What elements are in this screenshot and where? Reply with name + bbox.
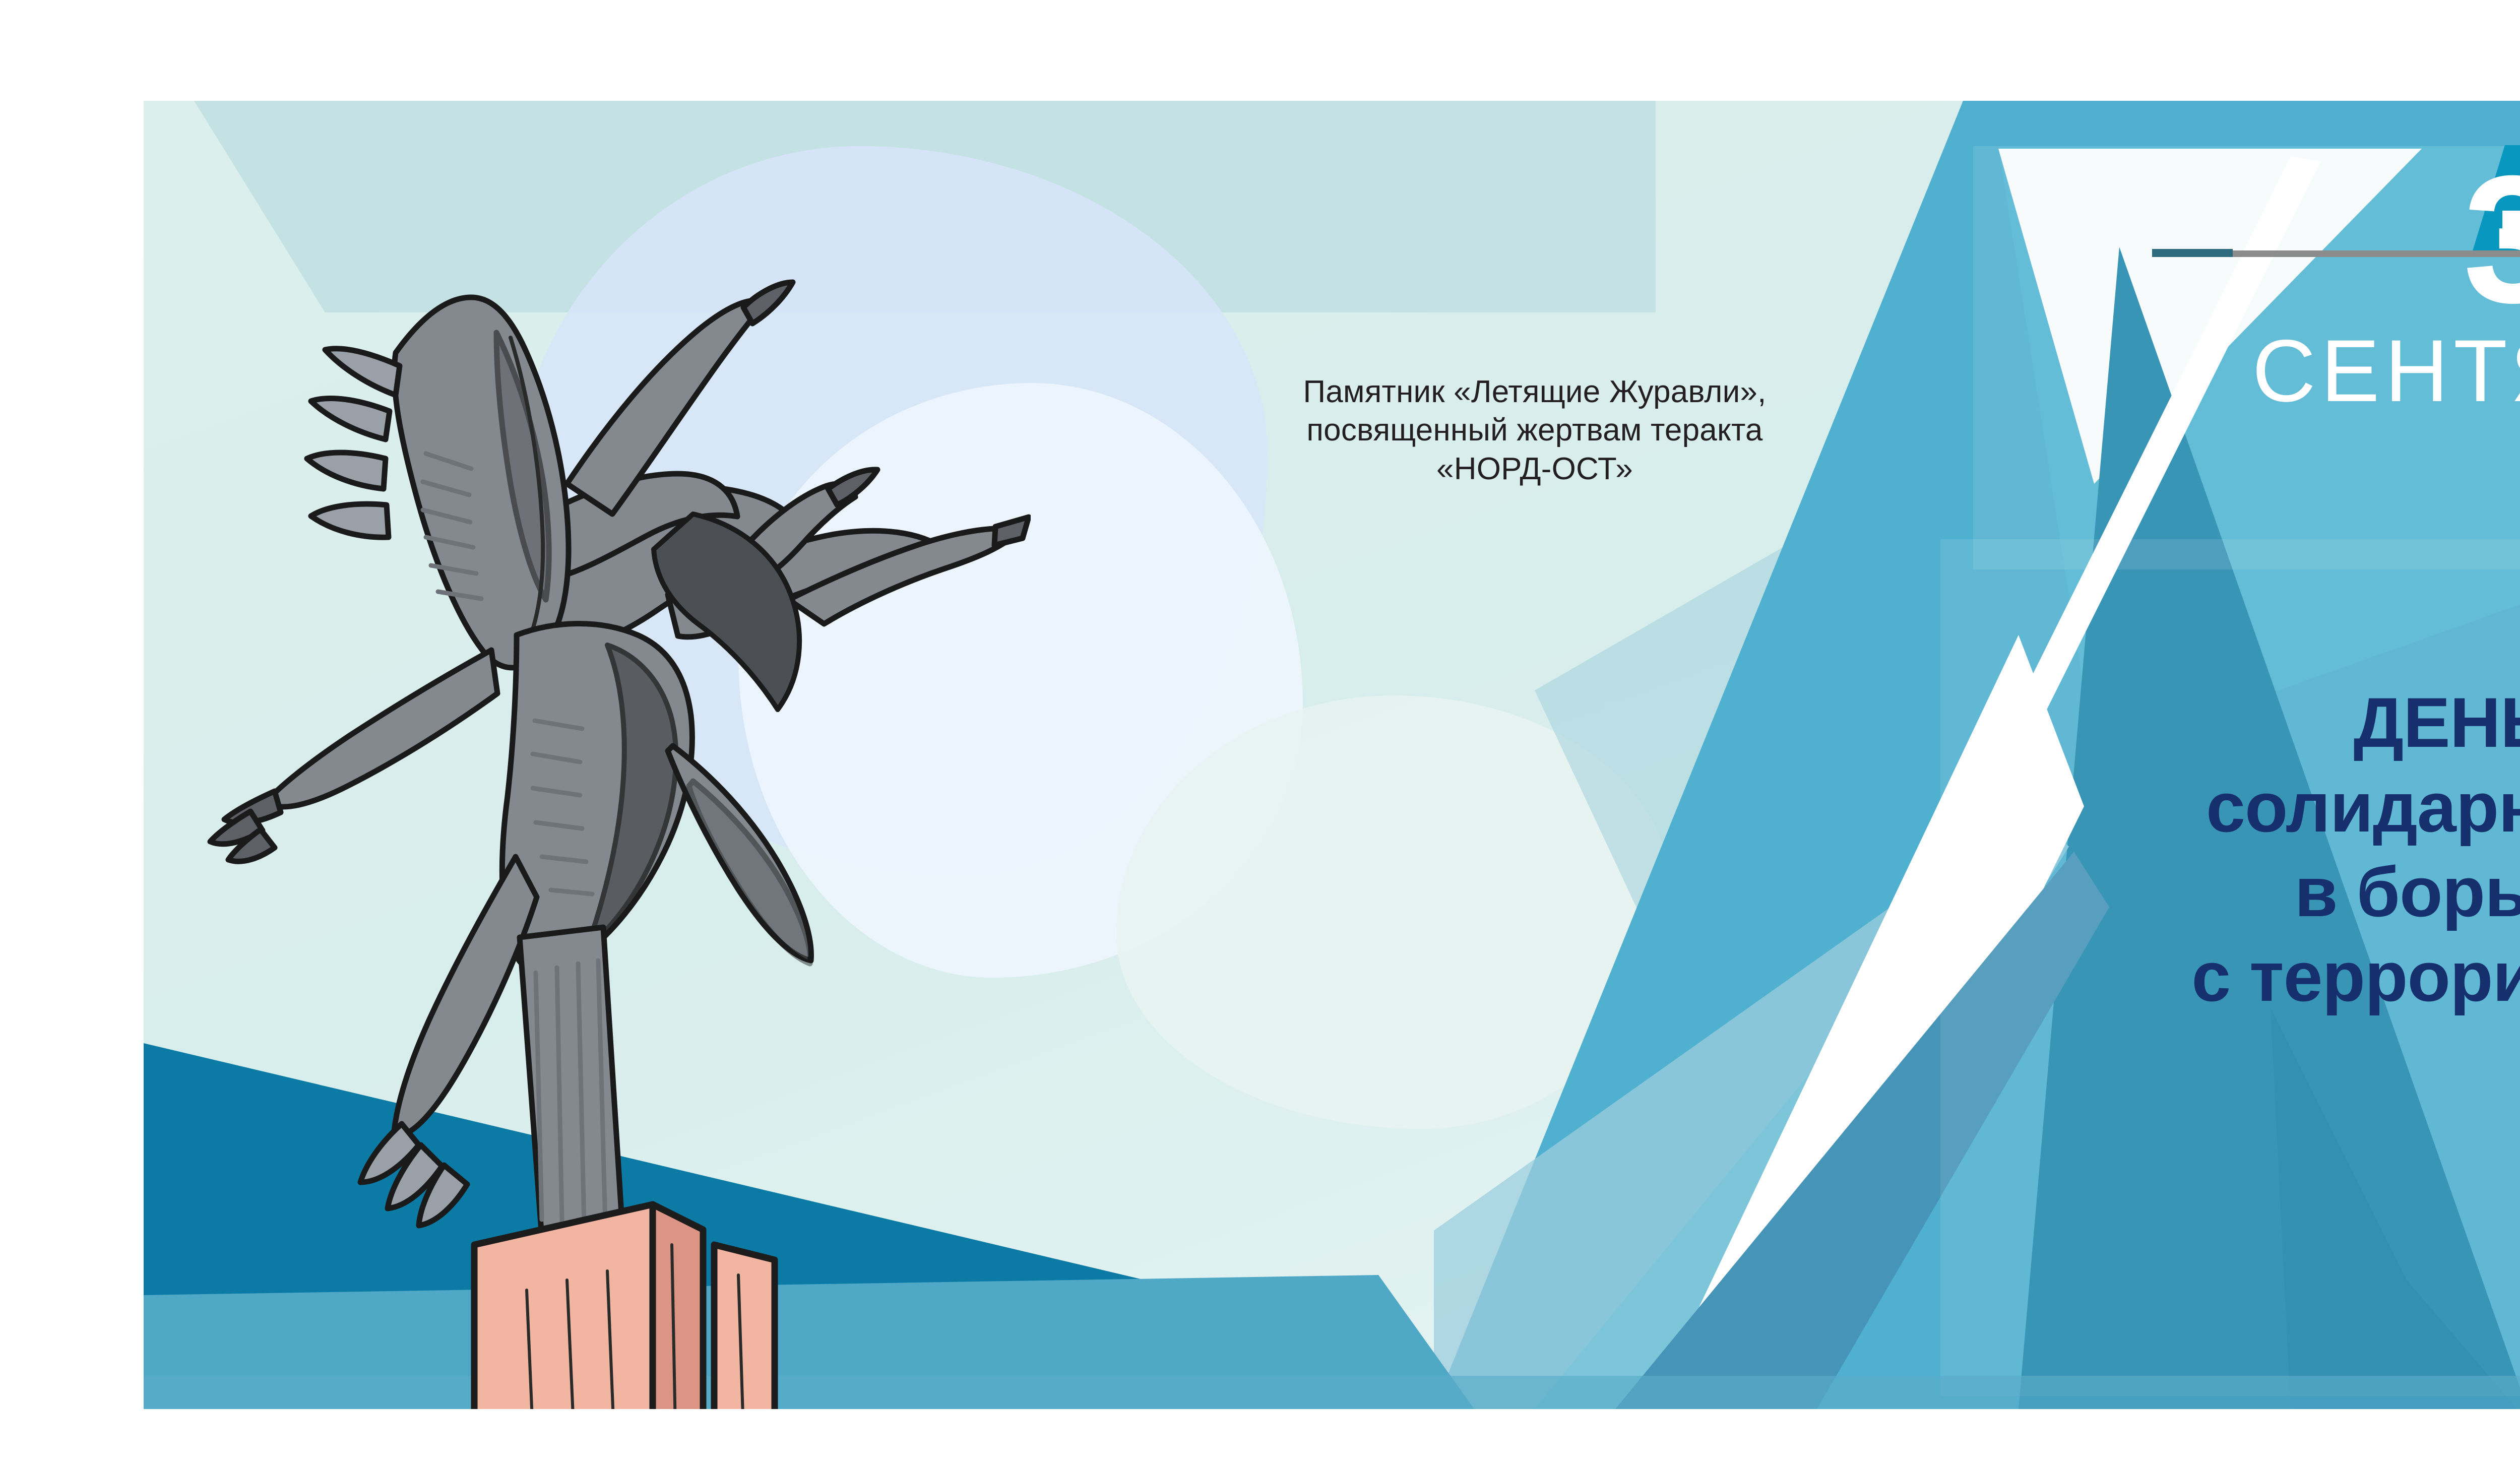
date-block: 3 СЕНТЯБРЯ [2109, 156, 2520, 415]
poster-title: ДЕНЬ солидарности в борьбе с терроризмом [1968, 680, 2520, 1019]
title-line-1: ДЕНЬ [1968, 680, 2520, 765]
date-month: СЕНТЯБРЯ [2109, 327, 2520, 415]
cranes-monument-illustration: .gl{fill:#9aa0a8;stroke:#1a1a1a;stroke-w… [144, 101, 1031, 1409]
title-line-3: в борьбе [1968, 850, 2520, 934]
monument-caption: Памятник «Летящие Журавли», посвященный … [1182, 373, 1887, 488]
caption-line-3: «НОРД-ОСТ» [1182, 450, 1887, 488]
poster-canvas: .gl{fill:#9aa0a8;stroke:#1a1a1a;stroke-w… [0, 0, 2520, 1469]
title-line-2: солидарности [1968, 765, 2520, 850]
date-day: 3 [2109, 156, 2520, 323]
caption-line-1: Памятник «Летящие Журавли», [1182, 373, 1887, 411]
poster-card: .gl{fill:#9aa0a8;stroke:#1a1a1a;stroke-w… [144, 101, 2520, 1409]
caption-line-2: посвященный жертвам теракта [1182, 411, 1887, 450]
title-line-4: с терроризмом [1968, 934, 2520, 1019]
